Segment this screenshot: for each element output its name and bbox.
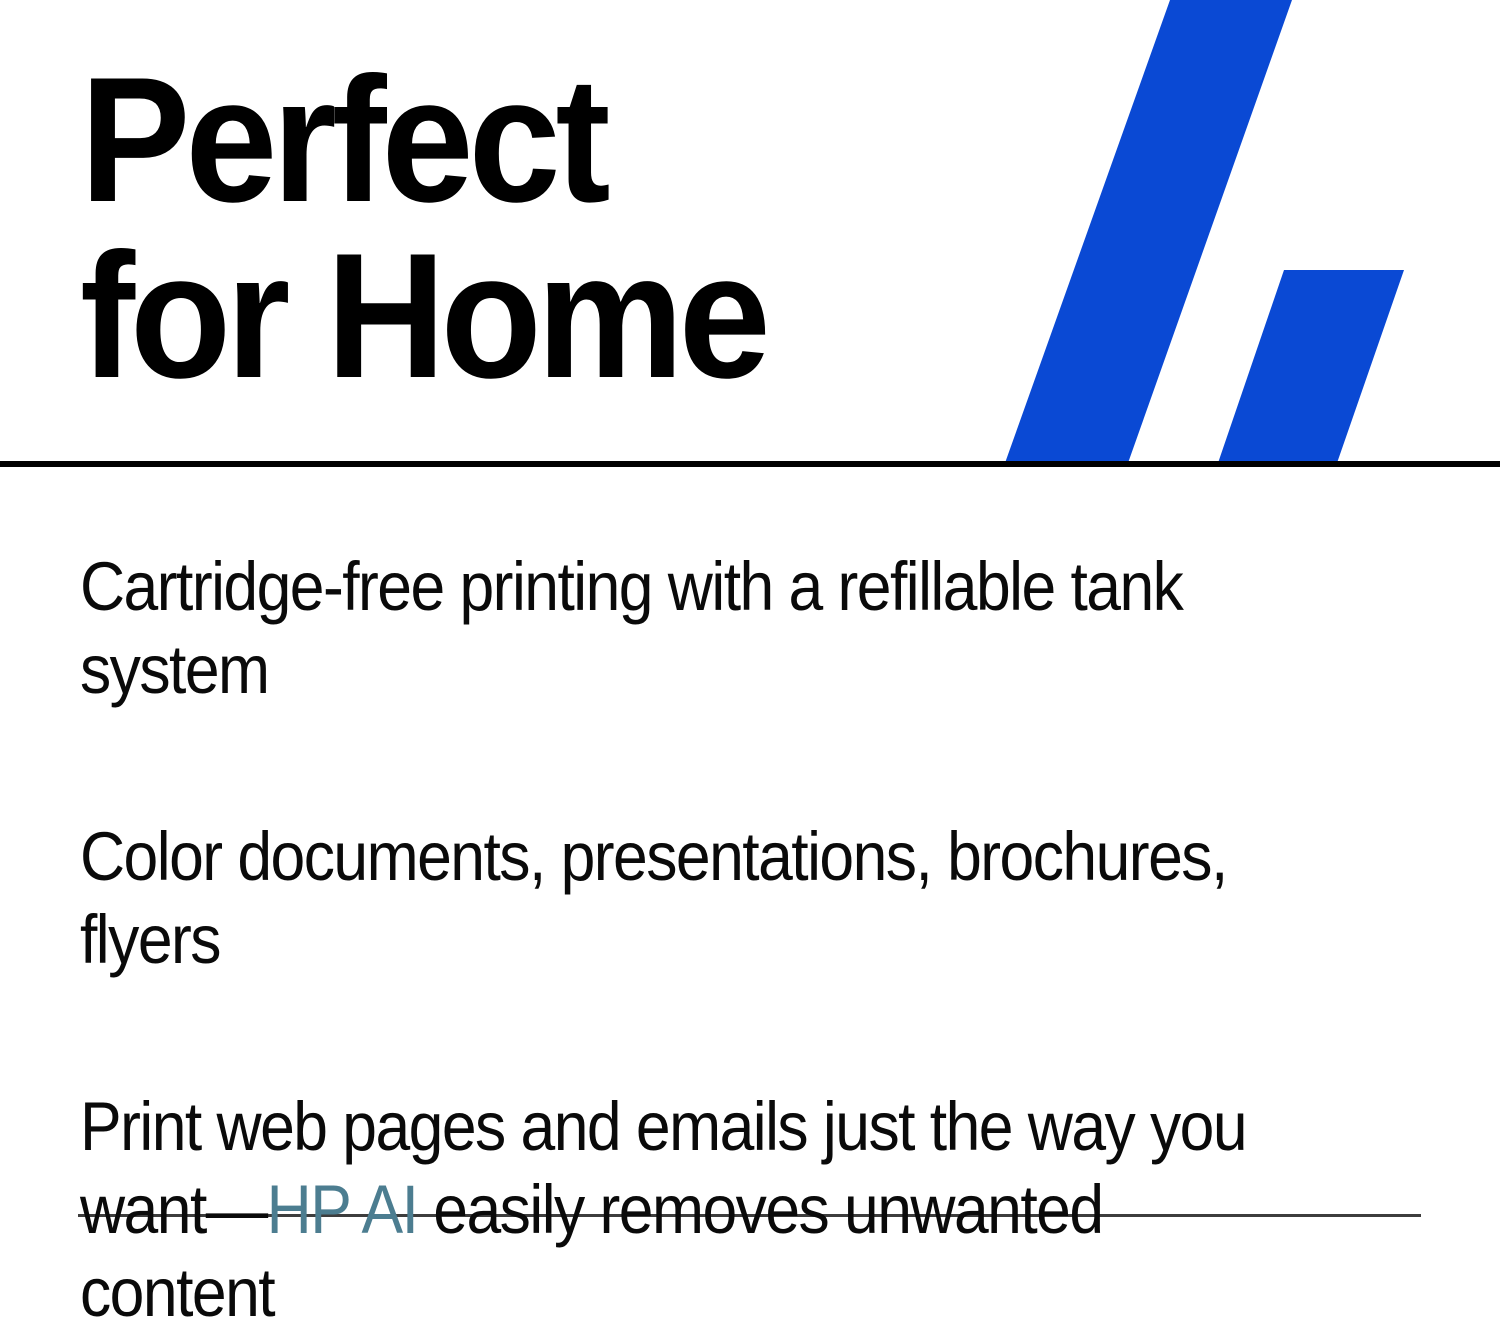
feature-item-color-documents: Color documents, presentations, brochure… [80, 815, 1311, 981]
angled-bars-svg [960, 0, 1500, 463]
feature-list: Cartridge-free printing with a refillabl… [0, 463, 1500, 1321]
page-title: Perfect for Home [80, 52, 766, 404]
feature-item-cartridge-free: Cartridge-free printing with a refillabl… [80, 545, 1311, 711]
angled-bar-large [1005, 0, 1292, 463]
product-feature-panel: Perfect for Home Cartridge-free printing… [0, 0, 1500, 1321]
feature-item-print-web-pages: Print web pages and emails just the way … [80, 1085, 1311, 1321]
angled-bar-small [1218, 270, 1404, 463]
hp-angled-bars-mark [960, 0, 1500, 463]
hero-section: Perfect for Home [0, 0, 1500, 463]
hp-ai-highlight: HP AI [267, 1171, 418, 1248]
